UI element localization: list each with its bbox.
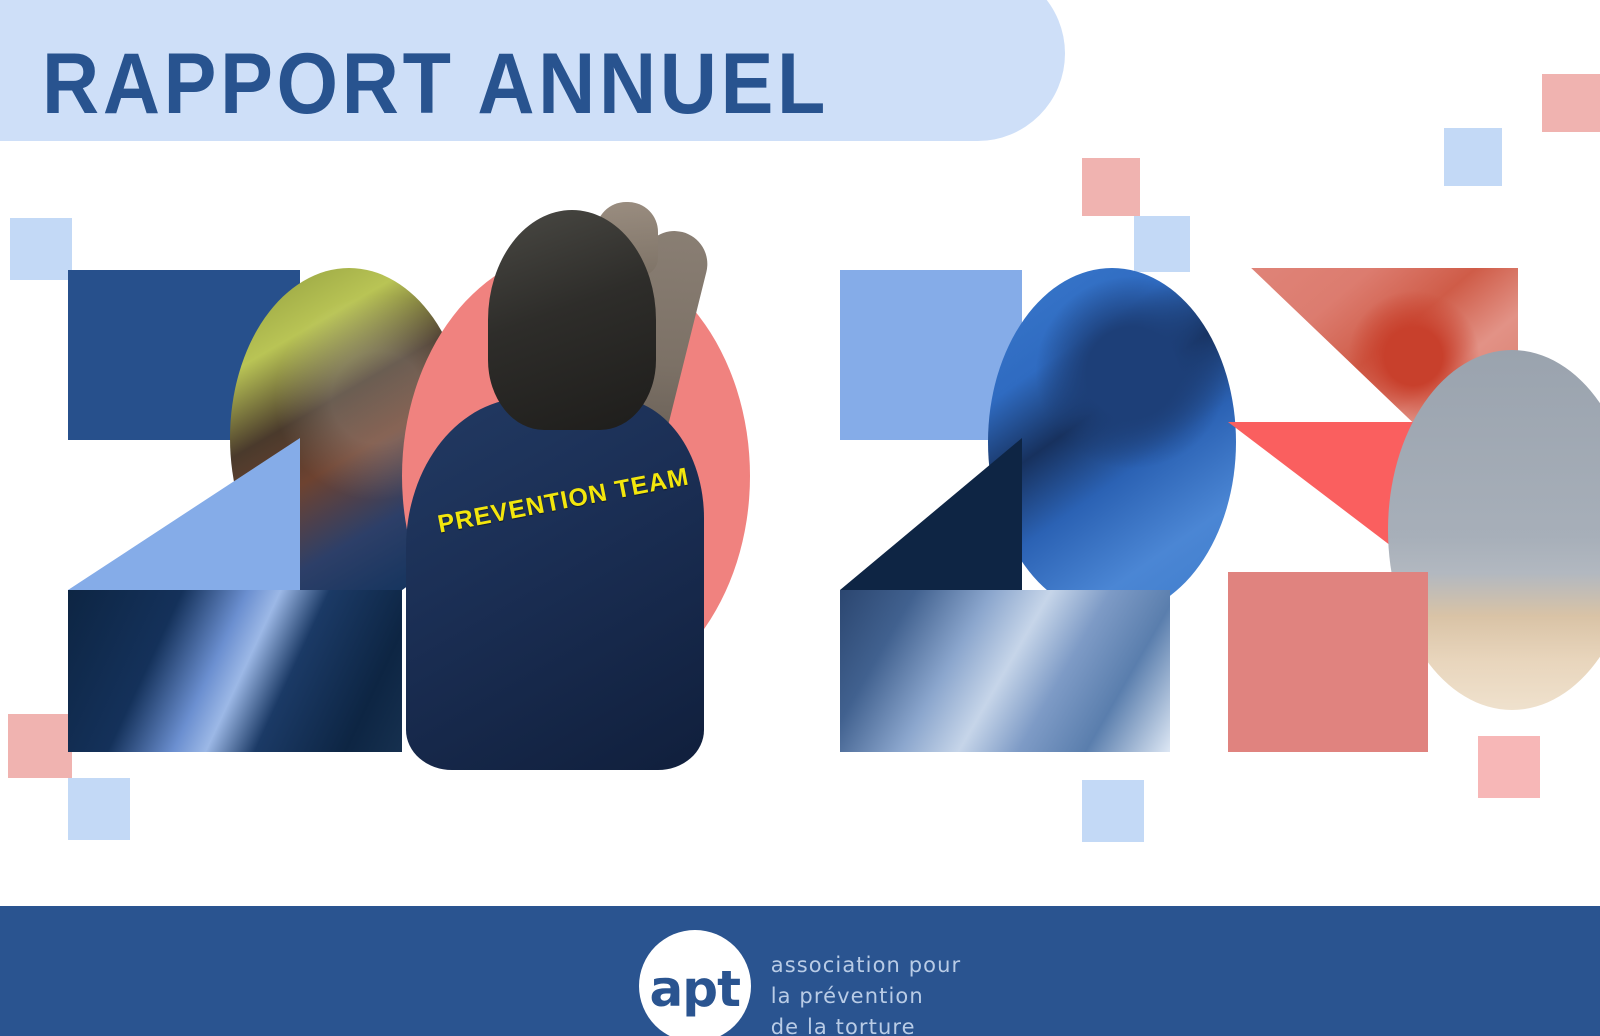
tagline-line-2: la prévention (771, 981, 961, 1012)
digit2b-bottom-bar (840, 590, 1170, 752)
square-top-right (1542, 74, 1600, 132)
apt-tagline: association pour la prévention de la tor… (771, 930, 961, 1036)
digit2b-circle-photo (988, 268, 1236, 616)
year-collage: PREVENTION TEAM (0, 150, 1600, 870)
digit-3 (1228, 150, 1568, 770)
apt-wordmark: apt (650, 964, 740, 1014)
digit2a-diagonal (68, 438, 300, 590)
prevention-team-person-photo: PREVENTION TEAM (388, 210, 708, 770)
apt-logo-circle: apt (639, 930, 751, 1036)
hair (488, 210, 656, 430)
page-title: RAPPORT ANNUEL (42, 41, 829, 127)
digit3-bottom-square (1228, 572, 1428, 752)
footer-bar: apt association pour la prévention de la… (0, 906, 1600, 1036)
digit-2-second (830, 150, 1170, 770)
title-banner: RAPPORT ANNUEL (0, 0, 1065, 141)
tagline-line-1: association pour (771, 950, 961, 981)
apt-logo-lockup[interactable]: apt association pour la prévention de la… (639, 930, 961, 1036)
tagline-line-3: de la torture (771, 1012, 961, 1036)
digit-2-first (62, 150, 382, 770)
annual-report-cover: RAPPORT ANNUEL PREV (0, 0, 1600, 1036)
navy-tshirt (406, 398, 704, 770)
digit2b-diagonal (840, 438, 1022, 590)
digit2a-bottom-bar (68, 590, 402, 752)
